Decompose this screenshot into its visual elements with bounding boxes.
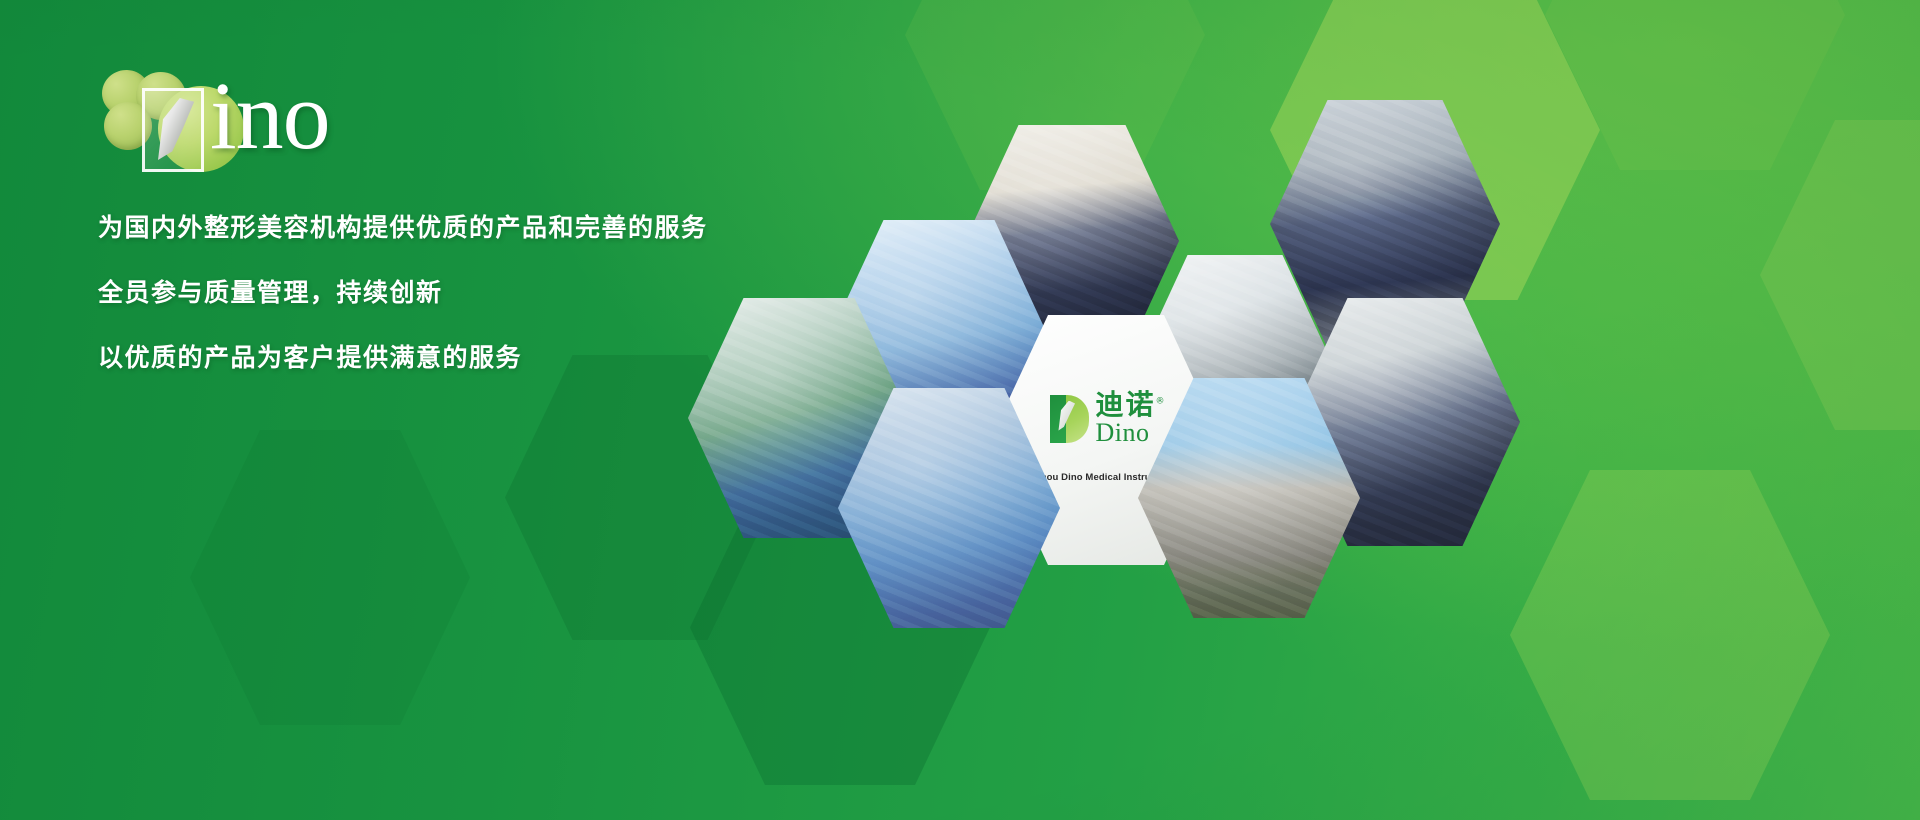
logo-cn-name: 迪诺® [1095,391,1166,419]
trademark-icon: ® [1156,397,1167,407]
logo-cn-chars: 迪诺 [1095,388,1155,421]
wordmark-text: ino [210,68,330,164]
slogan-line-2: 全员参与质量管理，持续创新 [98,273,738,309]
slogan-line-3: 以优质的产品为客户提供满意的服务 [98,338,738,374]
slogan-list: 为国内外整形美容机构提供优质的产品和完善的服务 全员参与质量管理，持续创新 以优… [98,208,738,374]
logo-en-name: Dino [1095,420,1149,446]
dino-wordmark: ino [98,62,738,172]
brand-block: ino 为国内外整形美容机构提供优质的产品和完善的服务 全员参与质量管理，持续创… [98,62,738,374]
banner-root: ino 为国内外整形美容机构提供优质的产品和完善的服务 全员参与质量管理，持续创… [0,0,1920,820]
dino-mark-icon [1045,393,1089,445]
logo-lockup: 迪诺® Dino [1045,391,1166,446]
hexagon-photo-collage: 迪诺® Dino Hangzhou Dino Medical Instrumen… [660,40,1920,660]
slogan-line-1: 为国内外整形美容机构提供优质的产品和完善的服务 [98,208,738,244]
logo-text-block: 迪诺® Dino [1095,391,1166,446]
